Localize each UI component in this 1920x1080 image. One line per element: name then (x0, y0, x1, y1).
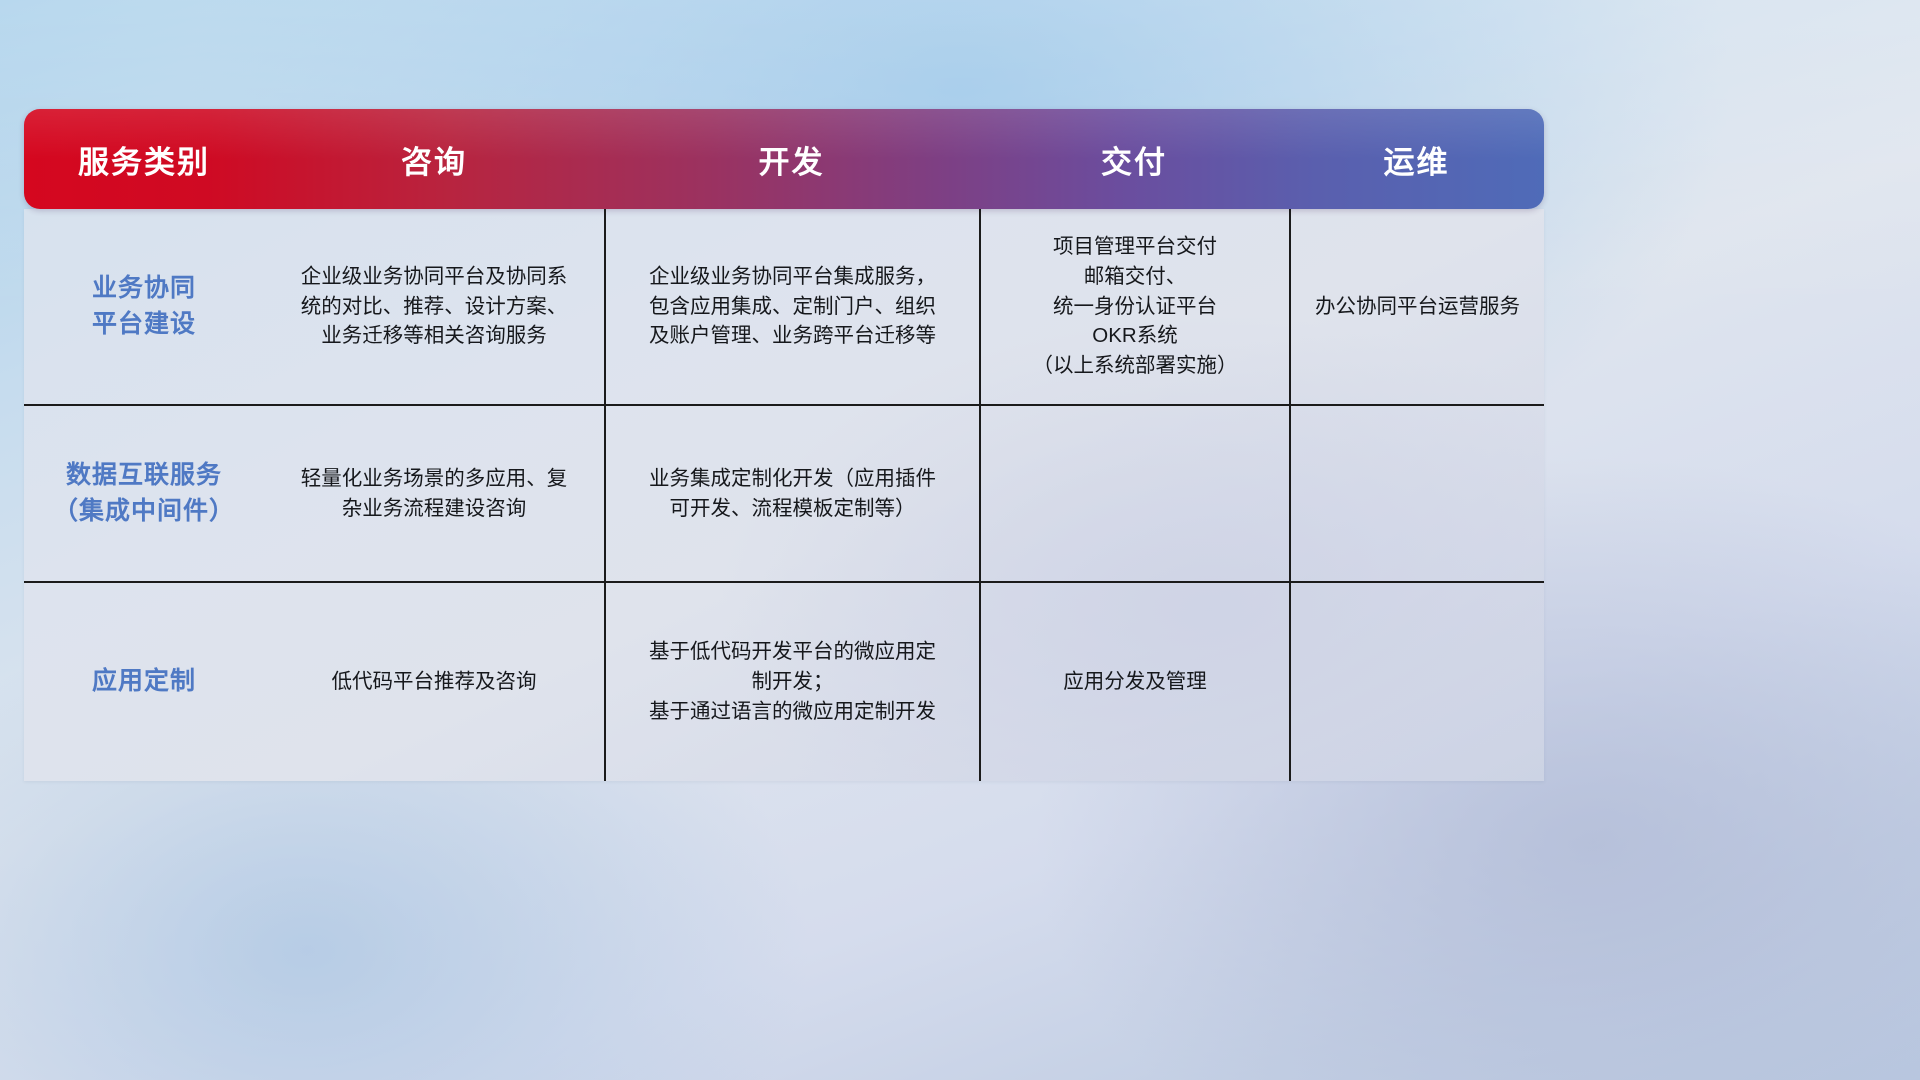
cell-consulting: 低代码平台推荐及咨询 (264, 583, 604, 781)
row-category-label: 业务协同 平台建设 (24, 209, 264, 404)
row-category-label: 数据互联服务 （集成中间件） (24, 406, 264, 581)
row-category-label: 应用定制 (24, 583, 264, 781)
cell-operations (1289, 583, 1544, 781)
cell-consulting: 轻量化业务场景的多应用、复 杂业务流程建设咨询 (264, 406, 604, 581)
table-row: 应用定制 低代码平台推荐及咨询 基于低代码开发平台的微应用定 制开发； 基于通过… (24, 583, 1544, 781)
cell-operations (1289, 406, 1544, 581)
column-header-service-category: 服务类别 (24, 137, 264, 182)
cell-development: 业务集成定制化开发（应用插件 可开发、流程模板定制等） (604, 406, 979, 581)
column-header-development: 开发 (604, 137, 979, 182)
column-header-operations: 运维 (1289, 137, 1544, 182)
table-row: 数据互联服务 （集成中间件） 轻量化业务场景的多应用、复 杂业务流程建设咨询 业… (24, 406, 1544, 583)
cell-operations: 办公协同平台运营服务 (1289, 209, 1544, 404)
cell-consulting: 企业级业务协同平台及协同系 统的对比、推荐、设计方案、 业务迁移等相关咨询服务 (264, 209, 604, 404)
table-row: 业务协同 平台建设 企业级业务协同平台及协同系 统的对比、推荐、设计方案、 业务… (24, 209, 1544, 406)
service-matrix-table: 服务类别 咨询 开发 交付 运维 业务协同 平台建设 企业级业务协同平台及协同系… (24, 109, 1544, 781)
cell-delivery (979, 406, 1289, 581)
column-header-consulting: 咨询 (264, 137, 604, 182)
cell-delivery: 应用分发及管理 (979, 583, 1289, 781)
table-body: 业务协同 平台建设 企业级业务协同平台及协同系 统的对比、推荐、设计方案、 业务… (24, 209, 1544, 781)
cell-delivery: 项目管理平台交付 邮箱交付、 统一身份认证平台 OKR系统 （以上系统部署实施） (979, 209, 1289, 404)
table-header-row: 服务类别 咨询 开发 交付 运维 (24, 109, 1544, 209)
cell-development: 企业级业务协同平台集成服务， 包含应用集成、定制门户、组织 及账户管理、业务跨平… (604, 209, 979, 404)
cell-development: 基于低代码开发平台的微应用定 制开发； 基于通过语言的微应用定制开发 (604, 583, 979, 781)
column-header-delivery: 交付 (979, 137, 1289, 182)
